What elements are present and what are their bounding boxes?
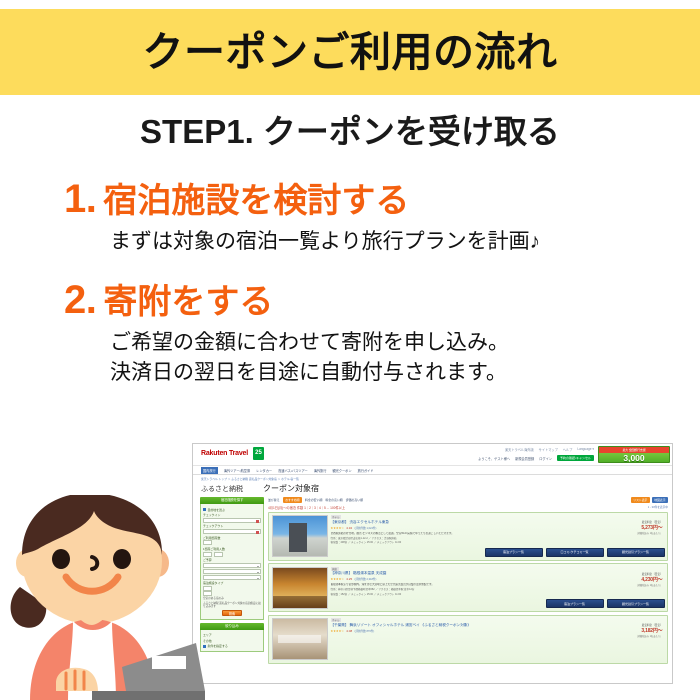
hotel-rating: ★★★★☆ 4.08 (評価件数 876件) bbox=[331, 629, 665, 633]
destination-checkbox-label[interactable]: 目的地を選ぶ bbox=[203, 508, 261, 512]
hotel-price: 最安料金（目安） 4,230円～ （消費税込み 1名あたり） bbox=[635, 572, 662, 587]
utility-nav-top: 楽天トラベル海外版 サイトマップ ヘルプ Language ▾ bbox=[505, 447, 594, 452]
hotel-category: 旅館 bbox=[331, 567, 339, 571]
woman-at-laptop-illustration bbox=[0, 495, 205, 700]
plan-list-button[interactable]: 宿泊プラン一覧 bbox=[485, 548, 543, 557]
rating-score: 4.32 bbox=[346, 526, 352, 530]
gnav-item-5[interactable]: 観光クーポン bbox=[332, 468, 351, 473]
eye-left-icon bbox=[52, 549, 70, 569]
price-value: 3,182円～ bbox=[635, 627, 662, 634]
sort-tab-recommended[interactable]: おすすめ順 bbox=[283, 497, 302, 503]
budget-max-select[interactable] bbox=[203, 569, 261, 574]
hotel-card[interactable]: ホテル 【東京都】 渋谷エクセルホテル東急 ★★★★☆ 4.32 (評価件数 1… bbox=[268, 512, 668, 561]
hotel-thumbnail[interactable] bbox=[272, 618, 328, 660]
search-button[interactable]: 検索 bbox=[222, 610, 242, 616]
filter-panel-title: 絞り込み bbox=[200, 623, 264, 630]
page-heading-row: ふるさと納税 クーポン対象宿 bbox=[193, 481, 672, 497]
step-1-title-row: 1. 宿泊施設を検討する bbox=[0, 178, 700, 221]
star-icons: ★★★★☆ bbox=[331, 577, 344, 581]
sort-label: 並び替え bbox=[268, 498, 280, 502]
sort-tab-price-desc[interactable]: 料金の高い順 bbox=[325, 498, 342, 502]
review-count[interactable]: (評価件数 2,318件) bbox=[354, 578, 376, 581]
grade-label: 宿泊施設タイプ bbox=[203, 581, 261, 585]
laptop-base-icon bbox=[92, 691, 205, 700]
results-toolbar: 並び替え おすすめ順 料金の安い順 料金の高い順 評価の高い順 リスト表示 地図… bbox=[268, 497, 668, 504]
mockup-topbar: Rakuten Travel 25 楽天トラベル海外版 サイトマップ ヘルプ L… bbox=[193, 444, 672, 466]
discount-plan-button[interactable]: 観光割引プラン一覧 bbox=[607, 548, 665, 557]
furusato-label: ふるさと納税 bbox=[201, 484, 243, 494]
sort-tab-price-asc[interactable]: 料金の安い順 bbox=[305, 498, 322, 502]
hotel-category: ホテル bbox=[331, 618, 342, 622]
budget-label: ご予算 bbox=[203, 558, 261, 562]
step-heading: STEP1. クーポンを受け取る bbox=[0, 114, 700, 150]
view-map-button[interactable]: 地図表示 bbox=[652, 497, 668, 503]
step-1-label: 宿泊施設を検討する bbox=[103, 183, 409, 220]
step-2-number: 2. bbox=[64, 279, 96, 322]
step-1-description: まずは対象の宿泊一覧より旅行プランを計画♪ bbox=[0, 227, 700, 257]
review-list-button[interactable]: 口コミ・クチコミ一覧 bbox=[546, 548, 604, 557]
price-note: （消費税込み 1名あたり） bbox=[635, 531, 662, 535]
mockup-body: 宿泊施設を探す 目的地を選ぶ チェックイン チェックアウト ご利用部屋数 1部屋… bbox=[193, 497, 672, 666]
checkin-input[interactable] bbox=[203, 518, 261, 523]
gnav-item-1[interactable]: 海外ツアー・航空券 bbox=[224, 468, 250, 473]
coupon-promo-amount: 3,000 bbox=[599, 453, 669, 463]
room-count-label: ご利用部屋数 bbox=[203, 536, 261, 540]
hotel-card-body: ホテル 【東京都】 渋谷エクセルホテル東急 ★★★★☆ 4.32 (評価件数 1… bbox=[331, 515, 665, 557]
step-1-number: 1. bbox=[64, 178, 96, 221]
hotel-card[interactable]: 旅館 【神奈川県】 箱根湯本温泉 天成園 ★★★★☆ 4.25 (評価件数 2,… bbox=[268, 563, 668, 612]
sort-tab-rating[interactable]: 評価の高い順 bbox=[346, 498, 363, 502]
view-switch: リスト表示 地図表示 bbox=[631, 497, 668, 503]
filter-item-0[interactable]: エリア bbox=[203, 633, 261, 637]
coupon-promo-badge[interactable]: 最大 全国旅行支援 3,000 bbox=[598, 446, 670, 463]
util-top-1[interactable]: サイトマップ bbox=[539, 447, 558, 452]
header-banner: クーポンご利用の流れ bbox=[0, 9, 700, 95]
hotel-description: 箱根湯本駅より徒歩圏内。滝を望む大浴場と屋上天空大露天風呂が自慢の温泉旅館です。 bbox=[331, 583, 665, 586]
star-icons: ★★★★☆ bbox=[331, 629, 344, 633]
hotel-card-buttons: 宿泊プラン一覧 口コミ・クチコミ一覧 観光割引プラン一覧 bbox=[331, 548, 665, 557]
discount-plan-button[interactable]: 観光割引プラン一覧 bbox=[607, 599, 665, 608]
step-1-desc-line-1: まずは対象の宿泊一覧より旅行プランを計画♪ bbox=[110, 227, 700, 257]
view-list-button[interactable]: リスト表示 bbox=[631, 497, 650, 503]
price-value: 5,273円～ bbox=[635, 524, 662, 531]
hotel-card[interactable]: ホテル 【千葉県】 舞浜リゾート オフィシャルホテル 浦安ベイ 《ふるさと納税ク… bbox=[268, 615, 668, 664]
coupon-filter-note: ふるさと納税 返礼品クーポン対象の宿泊施設に絞り込みます bbox=[203, 602, 261, 608]
step-item-1: 1. 宿泊施設を検討する まずは対象の宿泊一覧より旅行プランを計画♪ bbox=[0, 178, 700, 257]
utility-nav-bottom: ようこそ、ゲスト様へ 新規会員登録 ログイン 予約の確認・キャンセル bbox=[478, 455, 594, 461]
hotel-name[interactable]: 【神奈川県】 箱根湯本温泉 天成園 bbox=[331, 571, 665, 576]
result-note: 1 - 30件を表示中 bbox=[648, 505, 668, 510]
hotel-thumbnail[interactable] bbox=[272, 515, 328, 557]
guest-greeting: ようこそ、ゲスト様へ bbox=[478, 456, 510, 461]
hotel-rating: ★★★★☆ 4.32 (評価件数 1,024件) bbox=[331, 526, 665, 530]
gnav-item-0[interactable]: 国内旅行 bbox=[201, 467, 218, 474]
page-title: クーポンご利用の流れ bbox=[143, 32, 558, 73]
step-2-desc-line-1: ご希望の金額に合わせて寄附を申し込み。 bbox=[110, 328, 700, 358]
hotel-name[interactable]: 【東京都】 渋谷エクセルホテル東急 bbox=[331, 520, 665, 525]
hotel-price: 最安料金（目安） 5,273円～ （消費税込み 1名あたり） bbox=[635, 520, 662, 535]
gnav-item-4[interactable]: 海外旅行 bbox=[314, 468, 327, 473]
price-note: （消費税込み 1名あたり） bbox=[635, 634, 662, 638]
hotel-card-body: 旅館 【神奈川県】 箱根湯本温泉 天成園 ★★★★☆ 4.25 (評価件数 2,… bbox=[331, 567, 665, 609]
sidebar-panel-title: 宿泊施設を探す bbox=[200, 497, 264, 504]
budget-min-select[interactable] bbox=[203, 563, 261, 568]
people-count-label: 1部屋ご利用人数 bbox=[203, 547, 261, 551]
step-2-description: ご希望の金額に合わせて寄附を申し込み。 決済日の翌日を目途に自動付与されます。 bbox=[0, 328, 700, 388]
search-sidebar: 宿泊施設を探す 目的地を選ぶ チェックイン チェックアウト ご利用部屋数 1部屋… bbox=[200, 497, 264, 666]
rakuten-travel-logo[interactable]: Rakuten Travel bbox=[201, 450, 248, 457]
results-main: 並び替え おすすめ順 料金の安い順 料金の高い順 評価の高い順 リスト表示 地図… bbox=[268, 497, 668, 666]
result-count: 4月1日(月)～の宿泊 件数 1｜2｜3｜4｜5 ... 100件以上 bbox=[268, 505, 345, 510]
gnav-item-2[interactable]: レンタカー bbox=[256, 468, 272, 473]
global-nav: 国内旅行 海外ツアー・航空券 レンタカー 高速バス・バスツアー 海外旅行 観光ク… bbox=[193, 466, 672, 475]
review-count[interactable]: (評価件数 876件) bbox=[354, 630, 374, 633]
step-item-2: 2. 寄附をする ご希望の金額に合わせて寄附を申し込み。 決済日の翌日を目途に自… bbox=[0, 279, 700, 388]
anniversary-badge-icon: 25 bbox=[253, 447, 264, 460]
people-count-row[interactable] bbox=[203, 552, 261, 557]
rating-score: 4.08 bbox=[346, 629, 352, 633]
steps-list: 1. 宿泊施設を検討する まずは対象の宿泊一覧より旅行プランを計画♪ 2. 寄附… bbox=[0, 178, 700, 394]
checkout-label: チェックアウト bbox=[203, 524, 261, 528]
login-link[interactable]: ログイン bbox=[539, 456, 552, 461]
laptop-screen-glare-icon bbox=[152, 656, 186, 669]
price-value: 4,230円～ bbox=[635, 576, 662, 583]
result-count-row: 4月1日(月)～の宿泊 件数 1｜2｜3｜4｜5 ... 100件以上 1 - … bbox=[268, 504, 668, 512]
filter-panel: エリア その他 条件を指定する bbox=[200, 630, 264, 652]
hotel-meta-1: 住所：東京都渋谷区道玄坂1-12-2 ／ アクセス：渋谷駅直結 bbox=[331, 537, 665, 540]
review-count[interactable]: (評価件数 1,024件) bbox=[354, 527, 376, 530]
checkin-label: チェックイン bbox=[203, 513, 261, 517]
step-2-title-row: 2. 寄附をする bbox=[0, 279, 700, 322]
hotel-price: 最安料金（目安） 3,182円～ （消費税込み 1名あたり） bbox=[635, 623, 662, 638]
hotel-rating: ★★★★☆ 4.25 (評価件数 2,318件) bbox=[331, 577, 665, 581]
util-top-2[interactable]: ヘルプ bbox=[563, 447, 573, 452]
checkout-input[interactable] bbox=[203, 529, 261, 534]
budget-unit-select[interactable] bbox=[203, 575, 261, 580]
signup-link[interactable]: 新規会員登録 bbox=[515, 456, 534, 461]
reservation-check-button[interactable]: 予約の確認・キャンセル bbox=[557, 455, 594, 461]
eye-right-icon bbox=[113, 549, 131, 569]
hotel-meta-2: 客室数：152室 ／ チェックイン 15:00 ／ チェックアウト 11:00 bbox=[331, 593, 665, 596]
coupon-target-title: クーポン対象宿 bbox=[263, 483, 319, 494]
room-count-row[interactable] bbox=[203, 540, 261, 545]
gnav-item-6[interactable]: 旅行ガイド bbox=[358, 468, 374, 473]
hotel-card-buttons: 宿泊プラン一覧 観光割引プラン一覧 bbox=[331, 599, 665, 608]
rating-score: 4.25 bbox=[346, 577, 352, 581]
grade-max-row[interactable] bbox=[203, 591, 261, 596]
hotel-meta-1: 住所：神奈川県足柄下郡箱根町湯本682 ／ アクセス：箱根湯本駅 徒歩12分 bbox=[331, 588, 665, 591]
util-top-0[interactable]: 楽天トラベル海外版 bbox=[505, 447, 534, 452]
star-icons: ★★★★☆ bbox=[331, 526, 344, 530]
hotel-name[interactable]: 【千葉県】 舞浜リゾート オフィシャルホテル 浦安ベイ 《ふるさと納税クーポン対… bbox=[331, 623, 665, 628]
filter-item-2[interactable]: 条件を指定する bbox=[203, 644, 261, 648]
hotel-card-body: ホテル 【千葉県】 舞浜リゾート オフィシャルホテル 浦安ベイ 《ふるさと納税ク… bbox=[331, 618, 665, 660]
plan-list-button[interactable]: 宿泊プラン一覧 bbox=[546, 599, 604, 608]
language-selector[interactable]: Language ▾ bbox=[577, 447, 594, 452]
gnav-item-3[interactable]: 高速バス・バスツアー bbox=[278, 468, 308, 473]
hotel-description: 渋谷駅直結の好立地。観光・ビジネスの拠点として最適。全室Wi-Fi完備でゆったり… bbox=[331, 532, 665, 535]
hotel-meta-2: 客室数：408室 ／ チェックイン 15:00 ／ チェックアウト 11:00 bbox=[331, 541, 665, 544]
hotel-category: ホテル bbox=[331, 515, 342, 519]
sidebar-panel: 目的地を選ぶ チェックイン チェックアウト ご利用部屋数 1部屋ご利用人数 ご予 bbox=[200, 504, 264, 620]
filter-item-1[interactable]: その他 bbox=[203, 639, 261, 643]
site-screenshot-mockup: Rakuten Travel 25 楽天トラベル海外版 サイトマップ ヘルプ L… bbox=[192, 443, 673, 684]
step-2-label: 寄附をする bbox=[103, 284, 273, 321]
hotel-thumbnail[interactable] bbox=[272, 567, 328, 609]
step-2-desc-line-2: 決済日の翌日を目途に自動付与されます。 bbox=[110, 358, 700, 388]
price-note: （消費税込み 1名あたり） bbox=[635, 583, 662, 587]
children-select[interactable] bbox=[214, 552, 223, 557]
poster-root: クーポンご利用の流れ STEP1. クーポンを受け取る 1. 宿泊施設を検討する… bbox=[0, 0, 700, 700]
availability-note[interactable]: 空室のある宿のみ bbox=[203, 597, 261, 600]
